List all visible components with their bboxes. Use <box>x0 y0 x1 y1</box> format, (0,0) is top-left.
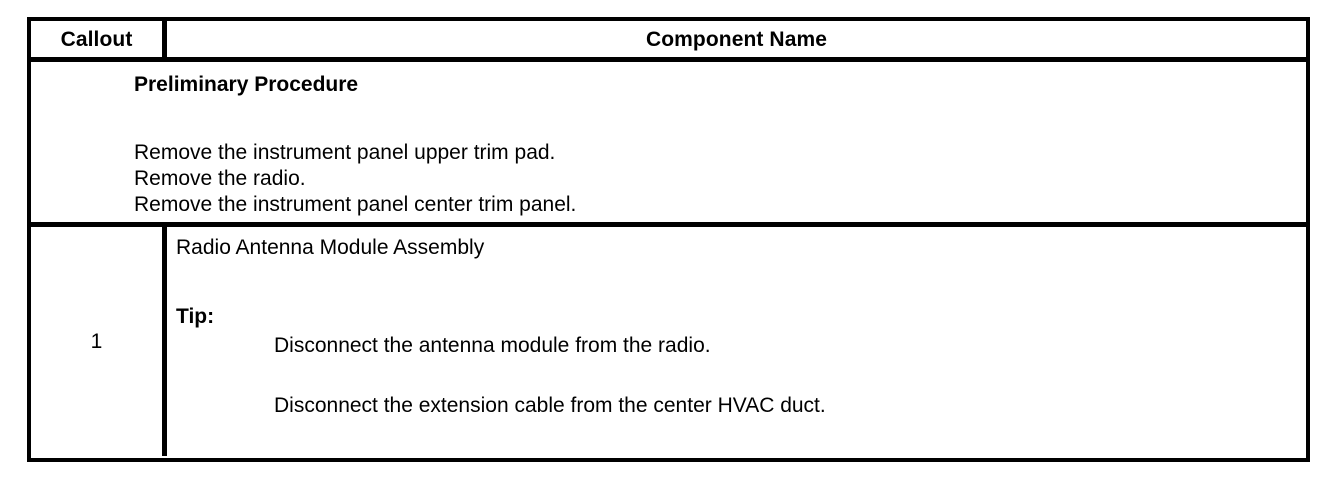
component-detail-body: Radio Antenna Module Assembly Tip: Disco… <box>176 227 1306 456</box>
tip-label: Tip: <box>176 306 214 327</box>
header-label-component-name: Component Name <box>646 29 827 50</box>
component-name: Radio Antenna Module Assembly <box>176 237 484 258</box>
preliminary-step: Remove the instrument panel upper trim p… <box>134 140 576 166</box>
procedure-table: Callout Component Name Preliminary Proce… <box>27 17 1310 462</box>
preliminary-procedure-title: Preliminary Procedure <box>134 74 358 95</box>
tip-step: Disconnect the extension cable from the … <box>274 395 826 416</box>
tip-step: Disconnect the antenna module from the r… <box>274 335 711 356</box>
preliminary-procedure-body: Preliminary Procedure Remove the instrum… <box>134 62 1306 222</box>
preliminary-step: Remove the radio. <box>134 166 576 192</box>
preliminary-procedure-row: Preliminary Procedure Remove the instrum… <box>31 62 1306 227</box>
table-row: 1 Radio Antenna Module Assembly Tip: Dis… <box>31 227 1306 456</box>
header-label-callout: Callout <box>61 29 133 50</box>
document-page: Callout Component Name Preliminary Proce… <box>0 0 1344 492</box>
header-cell-callout: Callout <box>31 21 167 57</box>
header-cell-component: Component Name <box>167 21 1306 57</box>
preliminary-procedure-steps: Remove the instrument panel upper trim p… <box>134 140 576 218</box>
table-header-row: Callout Component Name <box>31 21 1306 62</box>
preliminary-step: Remove the instrument panel center trim … <box>134 192 576 218</box>
callout-number: 1 <box>91 331 103 352</box>
callout-number-cell: 1 <box>31 227 167 456</box>
component-detail-cell: Radio Antenna Module Assembly Tip: Disco… <box>167 227 1306 456</box>
